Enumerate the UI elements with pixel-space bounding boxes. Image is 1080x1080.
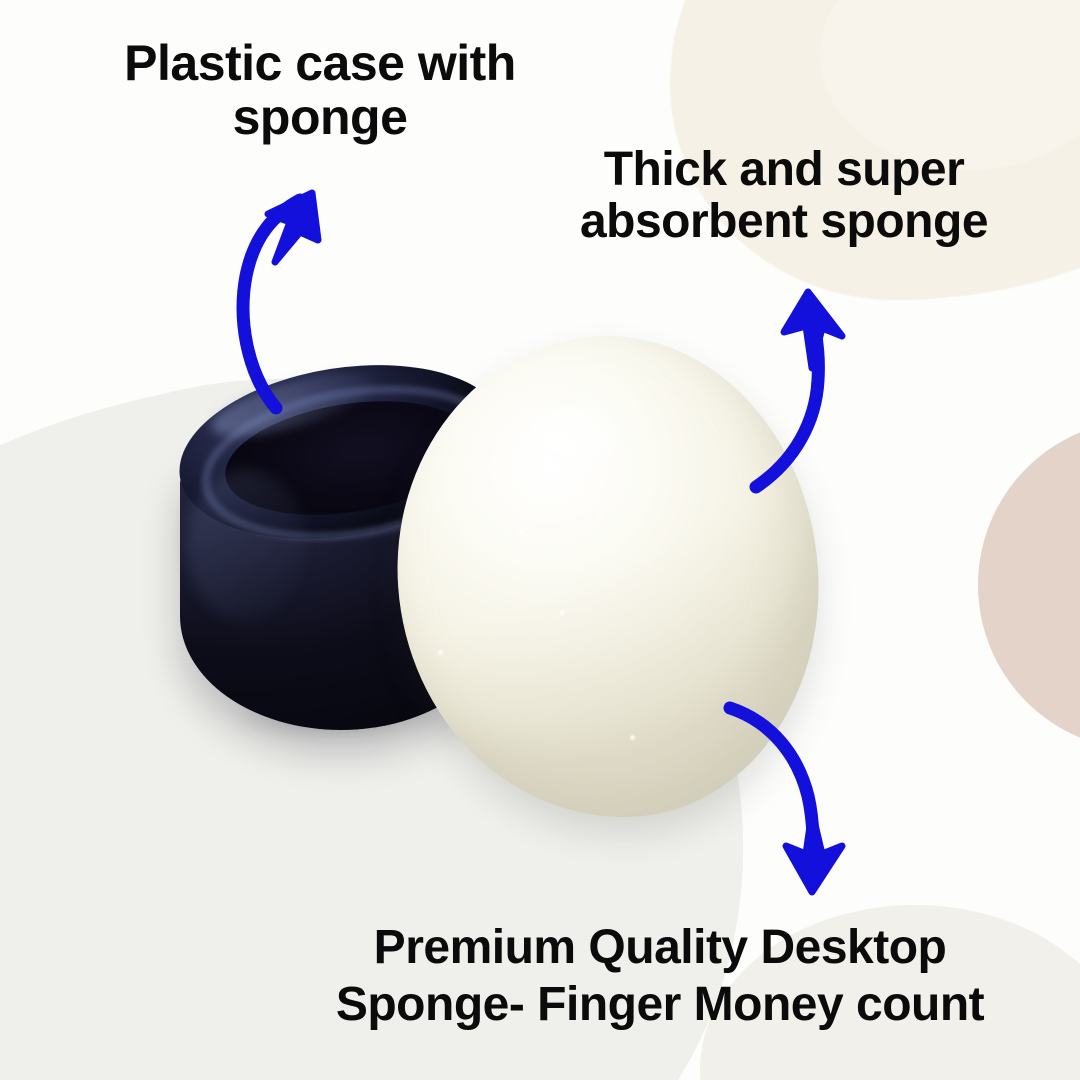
callout-label-plastic-case: Plastic case with sponge — [70, 36, 570, 144]
sponge-speck — [560, 610, 565, 615]
sponge-speck — [598, 515, 603, 520]
callout-line: absorbent sponge — [524, 196, 1044, 248]
callout-label-thick-sponge: Thick and super absorbent sponge — [524, 144, 1044, 248]
callout-line: sponge — [70, 90, 570, 144]
product-title-line: Premium Quality Desktop — [260, 920, 1060, 977]
product-title-text: Premium Quality Desktop Sponge- Finger M… — [260, 920, 1060, 1033]
callout-line: Thick and super — [524, 144, 1044, 196]
sponge-speck — [518, 530, 523, 535]
sponge-speck — [545, 455, 550, 460]
sponge-speck — [630, 735, 635, 740]
infographic-canvas: Plastic case with sponge Thick and super… — [0, 0, 1080, 1080]
sponge-speck — [438, 650, 443, 655]
product-title-line: Sponge- Finger Money count — [260, 977, 1060, 1034]
plastic-case-edge-light — [186, 470, 306, 620]
sponge-highlight — [470, 372, 670, 502]
callout-line: Plastic case with — [70, 36, 570, 90]
